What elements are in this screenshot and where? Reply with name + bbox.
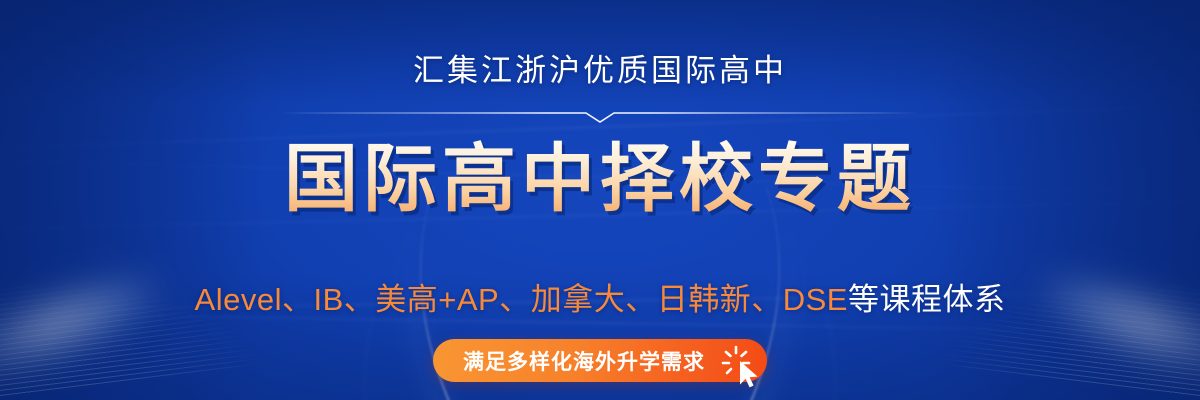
page-title: 国际高中择校专题 <box>284 140 916 218</box>
cta-container: 满足多样化海外升学需求 <box>433 339 767 395</box>
course-list-highlight: Alevel、IB、美高+AP、加拿大、日韩新、DSE <box>195 282 848 317</box>
divider <box>280 108 920 124</box>
banner-content: 汇集江浙沪优质国际高中 国际高中择校专题 Alevel、IB、 <box>0 0 1200 400</box>
course-list: Alevel、IB、美高+AP、加拿大、日韩新、DSE等课程体系 <box>195 284 1006 315</box>
promo-banner: 汇集江浙沪优质国际高中 国际高中择校专题 Alevel、IB、 <box>0 0 1200 400</box>
cta-button-label: 满足多样化海外升学需求 <box>463 346 733 376</box>
cta-button[interactable]: 满足多样化海外升学需求 <box>433 339 767 382</box>
course-list-suffix: 等课程体系 <box>848 282 1006 317</box>
banner-subtitle: 汇集江浙沪优质国际高中 <box>413 55 787 86</box>
divider-chevron-icon <box>280 108 920 124</box>
